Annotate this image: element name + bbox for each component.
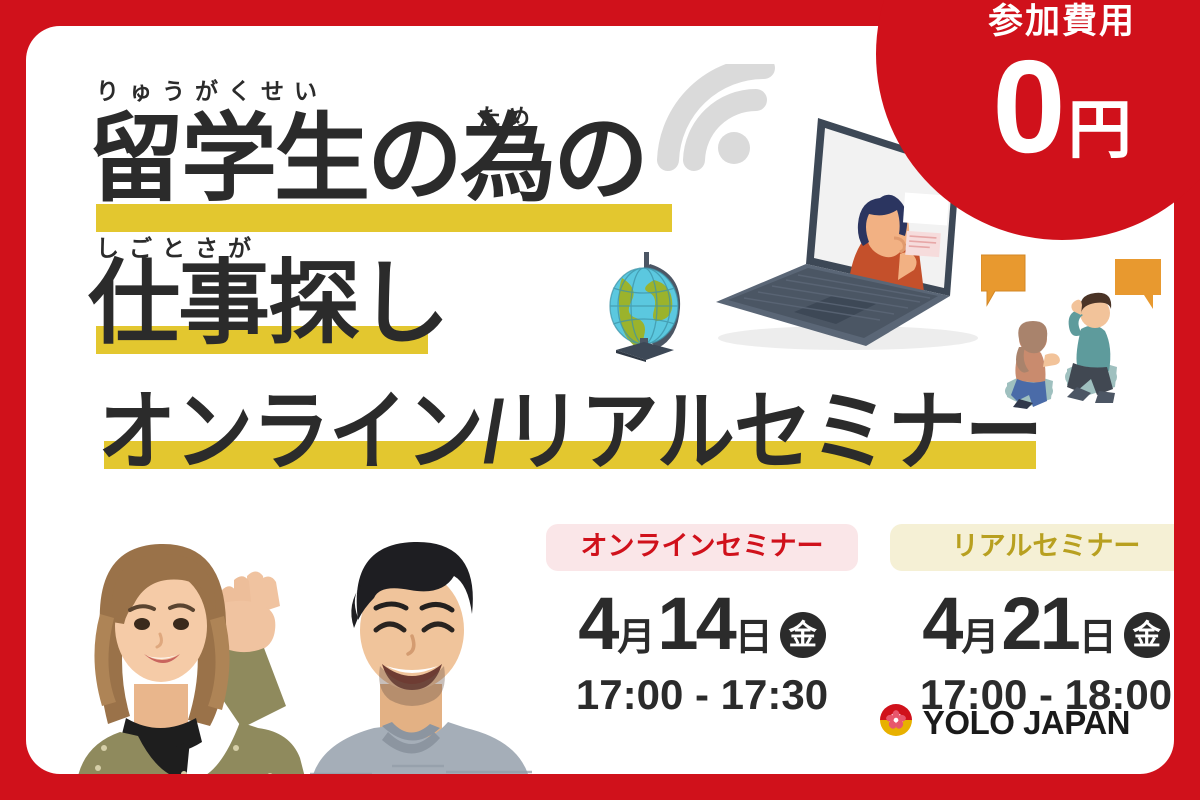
online-seminar-date: 4 月 14 日 金 bbox=[546, 587, 858, 661]
real-day-unit: 日 bbox=[1079, 619, 1117, 657]
badge-online-seminar: オンラインセミナー bbox=[546, 524, 858, 571]
fee-amount-number: 0 bbox=[992, 41, 1063, 173]
online-day-of-week-badge: 金 bbox=[780, 612, 826, 658]
real-seminar-date: 4 月 21 日 金 bbox=[890, 587, 1174, 661]
presenter-woman-photo bbox=[64, 518, 324, 774]
seminar-card-online: オンラインセミナー 4 月 14 日 金 17:00 - 17:30 bbox=[546, 524, 858, 719]
fee-amount: 0 円 bbox=[992, 41, 1131, 173]
yolo-flower-icon bbox=[879, 703, 913, 742]
online-day-number: 14 bbox=[657, 587, 733, 661]
online-day-unit: 日 bbox=[735, 619, 773, 657]
real-month-unit: 月 bbox=[961, 619, 999, 657]
headline-line-3: オンライン/リアルセミナー bbox=[98, 388, 1042, 475]
headline-line-1: 留学生の為の bbox=[88, 112, 646, 208]
real-day-number: 21 bbox=[1001, 587, 1077, 661]
yolo-japan-logo: YOLO JAPAN bbox=[879, 703, 1130, 742]
fee-badge: 参加費用 0 円 bbox=[876, 0, 1200, 240]
real-day-of-week-badge: 金 bbox=[1124, 612, 1170, 658]
online-month-unit: 月 bbox=[617, 619, 655, 657]
headline-line-2: 仕事探し bbox=[88, 258, 448, 350]
furigana-line1: りゅうがくせい bbox=[96, 72, 327, 106]
seminar-cards: オンラインセミナー 4 月 14 日 金 17:00 - 17:30 リアルセミ… bbox=[546, 524, 1174, 719]
real-month-number: 4 bbox=[922, 587, 960, 661]
logo-wordmark: YOLO JAPAN bbox=[923, 704, 1130, 742]
badge-real-seminar: リアルセミナー bbox=[890, 524, 1174, 571]
fee-currency-unit: 円 bbox=[1068, 98, 1132, 162]
seminar-card-real: リアルセミナー 4 月 21 日 金 17:00 - 18:00 bbox=[890, 524, 1174, 719]
globe-icon bbox=[592, 250, 710, 367]
banner-root: りゅうがくせい ため 留学生の為の しごとさが 仕事探し オンライン/リアルセミ… bbox=[0, 0, 1200, 800]
presenter-man-photo bbox=[296, 526, 546, 774]
online-month-number: 4 bbox=[578, 587, 616, 661]
online-seminar-time: 17:00 - 17:30 bbox=[546, 671, 858, 719]
